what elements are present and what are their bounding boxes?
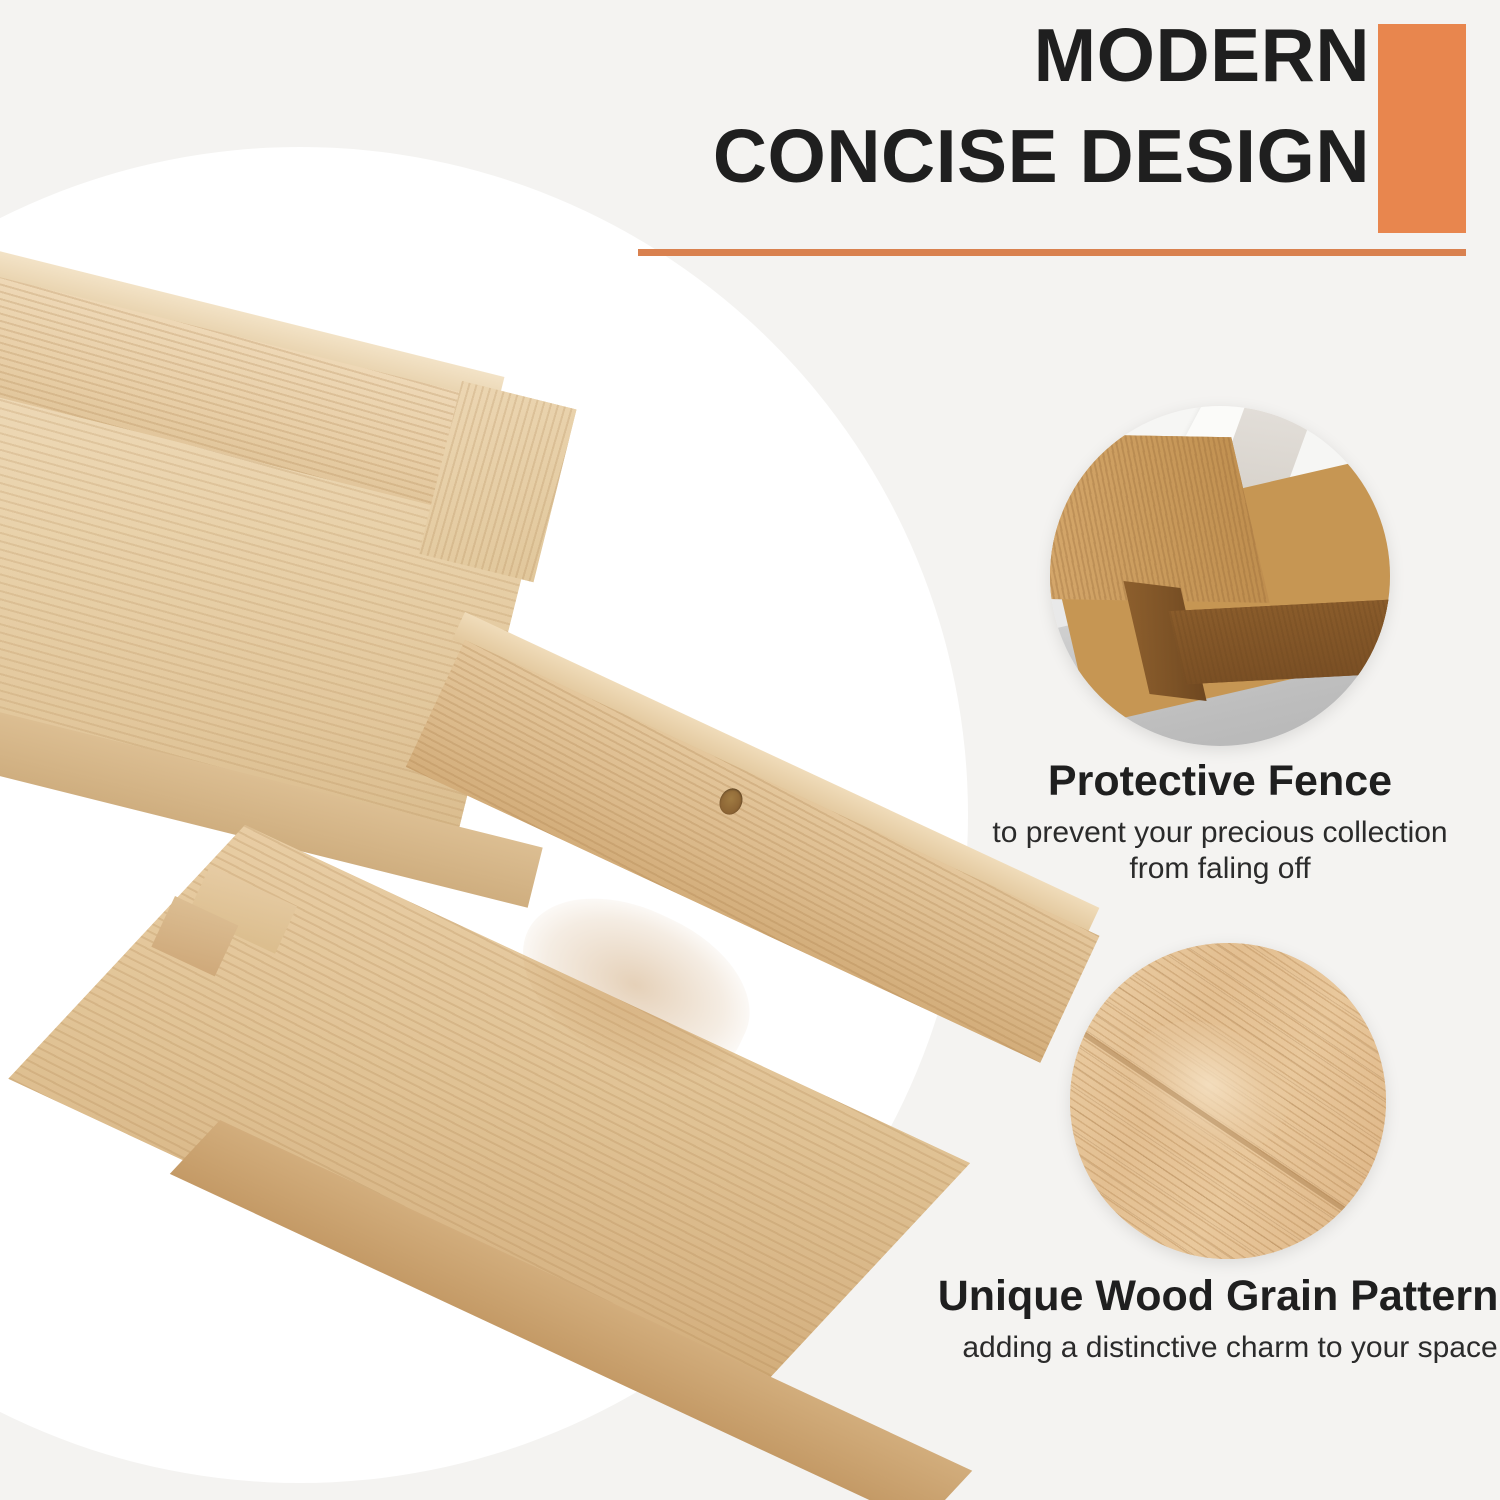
shelf-corner-fence-illustration bbox=[1050, 406, 1390, 746]
orange-accent-bar bbox=[1378, 24, 1466, 233]
feature-fence-subtitle-line-2: from faling off bbox=[925, 851, 1500, 887]
page-title-line-1: MODERN bbox=[600, 18, 1370, 93]
feature-fence-text: Protective Fence to prevent your preciou… bbox=[925, 758, 1500, 887]
shelf-corner-fence-photo bbox=[1050, 406, 1390, 746]
wood-grain-highlight bbox=[1107, 989, 1310, 1180]
shelf-fence-lip bbox=[1050, 433, 1270, 603]
feature-fence-subtitle-line-1: to prevent your precious collection bbox=[925, 815, 1500, 851]
headline-block: MODERN CONCISE DESIGN bbox=[600, 18, 1370, 194]
marketing-image-canvas: MODERN CONCISE DESIGN bbox=[0, 0, 1500, 1500]
feature-protective-fence: Protective Fence to prevent your preciou… bbox=[1050, 406, 1390, 746]
page-title-line-2: CONCISE DESIGN bbox=[600, 119, 1370, 194]
feature-grain-subtitle: adding a distinctive charm to your space bbox=[780, 1330, 1500, 1366]
feature-wood-grain: Unique Wood Grain Patterns adding a dist… bbox=[1070, 943, 1386, 1259]
orange-divider-rule bbox=[638, 249, 1466, 256]
shelf-front-edge-dark bbox=[1169, 597, 1390, 684]
wood-grain-illustration bbox=[1070, 943, 1386, 1259]
wood-grain-closeup-photo bbox=[1070, 943, 1386, 1259]
feature-fence-subtitle: to prevent your precious collection from… bbox=[925, 815, 1500, 887]
feature-fence-title: Protective Fence bbox=[925, 758, 1500, 805]
lower-floating-shelf bbox=[215, 620, 1135, 1380]
feature-grain-text: Unique Wood Grain Patterns adding a dist… bbox=[780, 1273, 1500, 1366]
feature-grain-title: Unique Wood Grain Patterns bbox=[780, 1273, 1500, 1320]
feature-grain-subtitle-line-1: adding a distinctive charm to your space bbox=[780, 1330, 1500, 1366]
